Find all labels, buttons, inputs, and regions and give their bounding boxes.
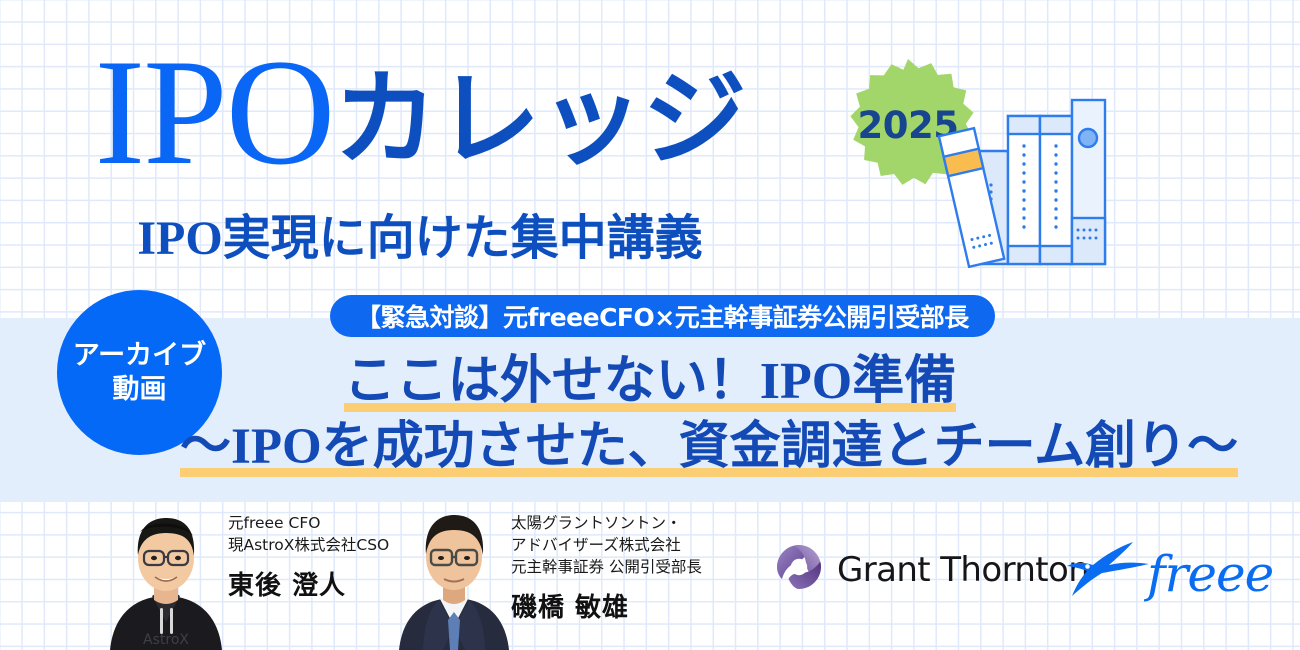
subtitle: IPO実現に向けた集中講義 — [0, 198, 840, 268]
headline-line-2-text: 〜IPOを成功させた、資金調達とチーム創り〜 — [180, 419, 1238, 477]
main-title: IPOカレッジ — [0, 36, 840, 188]
main-title-latin: IPO — [95, 28, 334, 196]
speaker-2-role-line-1: 太陽グラントソントン・ — [511, 512, 702, 534]
freee-bird-icon — [1065, 540, 1151, 607]
headline-line-1: ここは外せない！IPO準備 — [180, 352, 1120, 412]
ipo-college-banner: IPOカレッジ IPO実現に向けた集中講義 2025 — [0, 0, 1300, 650]
title-block: IPOカレッジ IPO実現に向けた集中講義 — [0, 0, 880, 300]
speaker-2-info: 太陽グラントソントン・ アドバイザーズ株式会社 元主幹事証券 公開引受部長 磯橋… — [511, 512, 702, 624]
archive-badge-line2: 動画 — [113, 373, 167, 406]
speaker-1-name: 東後 澄人 — [228, 565, 389, 602]
speaker-1-info: 元freee CFO 現AstroX株式会社CSO 東後 澄人 — [228, 512, 389, 602]
speaker-1-role-line-1: 元freee CFO — [228, 512, 389, 534]
main-title-kana: カレッジ — [333, 58, 745, 180]
speaker-2-role-line-3: 元主幹事証券 公開引受部長 — [511, 556, 702, 578]
headline-line-2: 〜IPOを成功させた、資金調達とチーム創り〜 — [180, 418, 1120, 477]
speaker-card-2: 太陽グラントソントン・ アドバイザーズ株式会社 元主幹事証券 公開引受部長 磯橋… — [395, 500, 755, 650]
speaker-2-name: 磯橋 敏雄 — [511, 587, 702, 624]
grant-thornton-logo: Grant Thornton — [775, 543, 1089, 596]
grant-thornton-mark-icon — [775, 543, 823, 596]
svg-text:AstroX: AstroX — [143, 632, 189, 648]
speaker-card-1: AstroX 元freee CFO 現AstroX株式会社CSO 東後 澄人 — [100, 500, 420, 650]
headline: ここは外せない！IPO準備 〜IPOを成功させた、資金調達とチーム創り〜 — [180, 352, 1120, 477]
headline-line-1-text: ここは外せない！IPO準備 — [344, 353, 956, 412]
grant-thornton-wordmark: Grant Thornton — [837, 550, 1089, 590]
books-illustration — [930, 78, 1120, 268]
freee-logo: freee — [1065, 540, 1273, 607]
speaker-2-role-line-2: アドバイザーズ株式会社 — [511, 534, 702, 556]
session-tag-badge: 【緊急対談】元freeeCFO×元主幹事証券公開引受部長 — [330, 295, 995, 337]
speaker-1-photo: AstroX — [100, 500, 232, 650]
speaker-2-photo — [395, 500, 513, 650]
freee-wordmark: freee — [1147, 545, 1273, 603]
speaker-1-role-line-2: 現AstroX株式会社CSO — [228, 534, 389, 556]
